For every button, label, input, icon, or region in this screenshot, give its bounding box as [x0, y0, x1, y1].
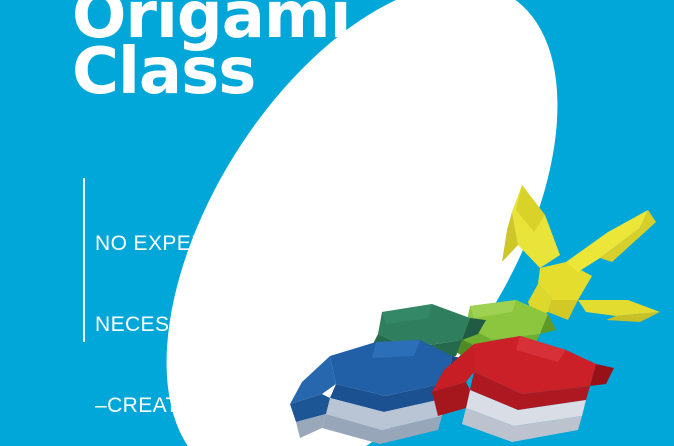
- poster-canvas: OrigamiClass NO EXPERIENCE NECESSARY –CR…: [0, 0, 674, 446]
- body-copy-line-3: –CREATE AND: [95, 392, 289, 419]
- page-title: OrigamiClass: [72, 0, 351, 100]
- body-copy-line-2: NECESSARY: [95, 311, 289, 338]
- body-copy-line-1: NO EXPERIENCE: [95, 230, 289, 257]
- body-copy: NO EXPERIENCE NECESSARY –CREATE AND TAKE…: [95, 176, 289, 446]
- vertical-divider-rule: [83, 178, 85, 342]
